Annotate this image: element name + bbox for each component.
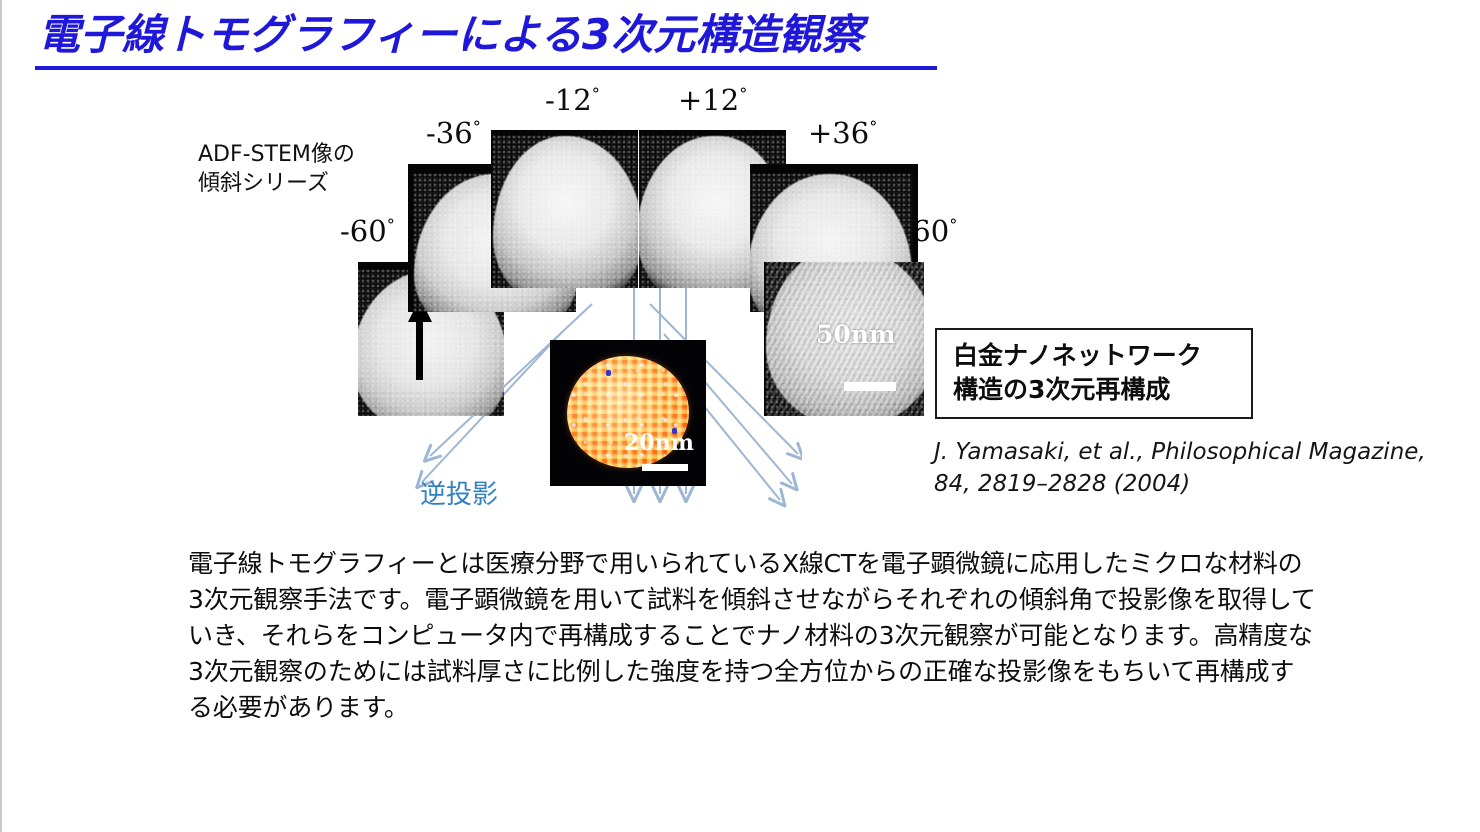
angle-label-plus-12: +12° (678, 86, 747, 115)
tilt-axis-arrow-shaft (416, 320, 423, 380)
stem-panel-plus-60: 50nm (764, 262, 924, 416)
recon-marker-dot (606, 370, 611, 376)
angle-value: -12 (545, 83, 592, 117)
back-projection-label: 逆投影 (420, 474, 498, 511)
reconstruction-image: 20nm (550, 340, 706, 486)
body-paragraph: 電子線トモグラフィーとは医療分野で用いられているX線CTを電子顕微鏡に応用したミ… (188, 546, 1318, 726)
title-underline (35, 66, 937, 70)
tilt-axis-label: on axis (358, 262, 359, 318)
scale-bar-20nm (642, 464, 688, 471)
angle-label-minus-36: -36° (426, 119, 481, 148)
angle-value: -36 (426, 116, 473, 150)
degree-symbol: ° (592, 84, 600, 103)
degree-symbol: ° (739, 84, 747, 103)
degree-symbol: ° (949, 215, 957, 234)
stem-particle (493, 136, 638, 288)
angle-label-plus-36: +36° (808, 119, 877, 148)
angle-value: +12 (678, 83, 739, 117)
degree-symbol: ° (869, 117, 877, 136)
citation-reference: J. Yamasaki, et al., Philosophical Magaz… (934, 437, 1480, 500)
angle-label-minus-60: -60° (340, 217, 395, 246)
degree-symbol: ° (473, 117, 481, 136)
stem-panel-minus-12 (491, 130, 638, 288)
result-box-caption: 白金ナノネットワーク 構造の3次元再構成 (935, 328, 1253, 419)
angle-value: +36 (808, 116, 869, 150)
angle-label-minus-12: -12° (545, 86, 600, 115)
scale-bar-50nm (844, 382, 896, 391)
angle-value: -60 (340, 214, 387, 248)
page-title: 電子線トモグラフィーによる3次元構造観察 (38, 14, 863, 56)
scale-bar-label-20nm: 20nm (624, 430, 694, 456)
scale-bar-label-50nm: 50nm (816, 320, 895, 349)
adf-stem-caption: ADF-STEM像の 傾斜シリーズ (198, 140, 355, 198)
stem-grain-texture (493, 136, 638, 288)
slide-canvas: 電子線トモグラフィーによる3次元構造観察 ADF-STEM像の 傾斜シリーズ -… (0, 0, 1480, 832)
degree-symbol: ° (387, 215, 395, 234)
